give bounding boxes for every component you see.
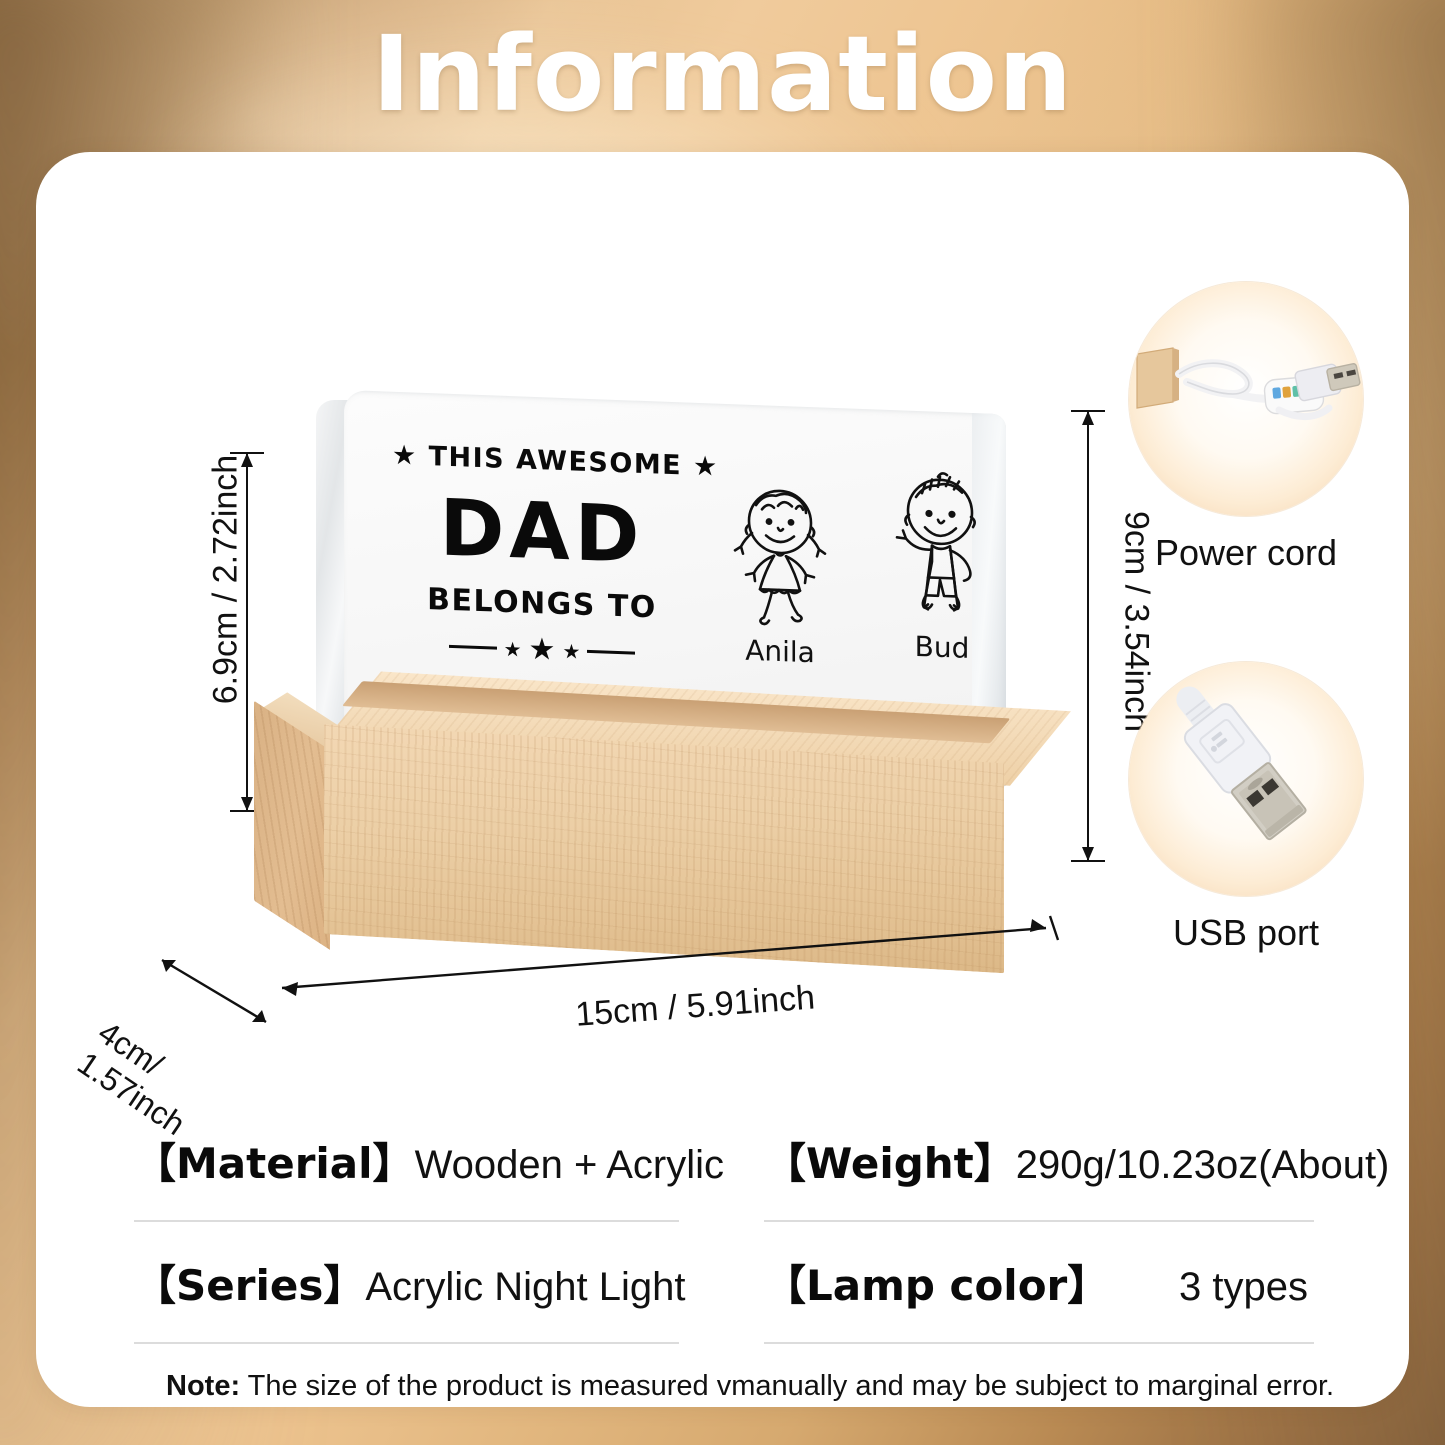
dimension-base-width: 15cm / 5.91inch <box>274 910 1064 1050</box>
accessory-power-cord: Power cord <box>1111 282 1381 574</box>
star-icon-large: ★ <box>529 634 556 665</box>
spec-key-weight: 【Weight】 <box>764 1100 1016 1191</box>
info-card: 6.9cm / 2.72inch 9cm / 3.54inch ★ T <box>36 152 1409 1407</box>
arrow-up-icon <box>1082 411 1094 425</box>
dimension-depth-arrow <box>154 952 284 1042</box>
dimension-base-depth: 4cm/ 1.57inch <box>154 952 284 1042</box>
dimension-label-acrylic-height: 6.9cm / 2.72inch <box>207 430 246 730</box>
page-title: Information <box>0 18 1445 130</box>
spec-key-lamp-color: 【Lamp color】 <box>764 1222 1109 1313</box>
plaque-text-block: ★ THIS AWESOME ★ DAD BELONGS TO ★ ★ ★ <box>392 440 692 671</box>
girl-stick-figure-icon <box>714 476 846 631</box>
star-icon-small-right: ★ <box>562 641 580 662</box>
dimension-acrylic-height: 6.9cm / 2.72inch <box>194 452 254 812</box>
kid-figure-boy: Bud <box>872 463 1006 666</box>
arrow-down-icon <box>1082 847 1094 861</box>
plaque-line-this-awesome: ★ THIS AWESOME ★ <box>392 440 692 482</box>
product-illustration: 6.9cm / 2.72inch 9cm / 3.54inch ★ T <box>96 262 1096 1072</box>
dimension-width-arrow <box>274 910 1064 1000</box>
spec-value-weight: 290g/10.23oz(About) <box>1016 1113 1396 1188</box>
spec-cell-series: 【Series】 Acrylic Night Light <box>134 1222 679 1344</box>
kid-name-boy: Bud <box>872 628 1006 666</box>
spec-cell-material: 【Material】 Wooden + Acrylic <box>134 1100 679 1222</box>
spec-key-series: 【Series】 <box>134 1222 365 1313</box>
accessory-caption-power-cord: Power cord <box>1111 532 1381 574</box>
divider-rule-left <box>449 645 497 650</box>
page-root: Information 6.9cm / 2.72inch 9cm / 3.54i… <box>0 0 1445 1445</box>
spec-key-material: 【Material】 <box>134 1100 415 1191</box>
kid-figure-girl: Anila <box>710 475 850 670</box>
dimension-line <box>1087 410 1089 862</box>
boy-stick-figure-icon <box>876 464 1006 627</box>
note-body: The size of the product is measured vman… <box>248 1370 1334 1402</box>
accessory-circle <box>1129 662 1363 896</box>
plaque-line-belongs-to: BELONGS TO <box>392 580 692 626</box>
plaque-headline-dad: DAD <box>392 479 692 588</box>
accessory-usb-port: USB port <box>1111 662 1381 954</box>
accessory-caption-usb-port: USB port <box>1111 912 1381 954</box>
spec-value-material: Wooden + Acrylic <box>415 1113 724 1188</box>
star-icon-small-left: ★ <box>504 638 522 659</box>
power-cord-icon <box>1129 282 1363 516</box>
spec-row: 【Material】 Wooden + Acrylic 【Weight】 290… <box>134 1100 1314 1222</box>
note-label: Note: <box>166 1370 240 1402</box>
spec-value-lamp-color: 3 types <box>1109 1235 1314 1310</box>
spec-cell-lamp-color: 【Lamp color】 3 types <box>764 1222 1314 1344</box>
specification-table: 【Material】 Wooden + Acrylic 【Weight】 290… <box>134 1100 1314 1344</box>
note-text: Note: The size of the product is measure… <box>166 1370 1376 1403</box>
divider-rule-right <box>587 650 635 655</box>
spec-value-series: Acrylic Night Light <box>365 1235 685 1310</box>
spec-cell-weight: 【Weight】 290g/10.23oz(About) <box>764 1100 1314 1222</box>
accessory-list: Power cord <box>1111 272 1381 1072</box>
accessory-circle <box>1129 282 1363 516</box>
usb-plug-icon <box>1129 662 1363 896</box>
spec-row: 【Series】 Acrylic Night Light 【Lamp color… <box>134 1222 1314 1344</box>
